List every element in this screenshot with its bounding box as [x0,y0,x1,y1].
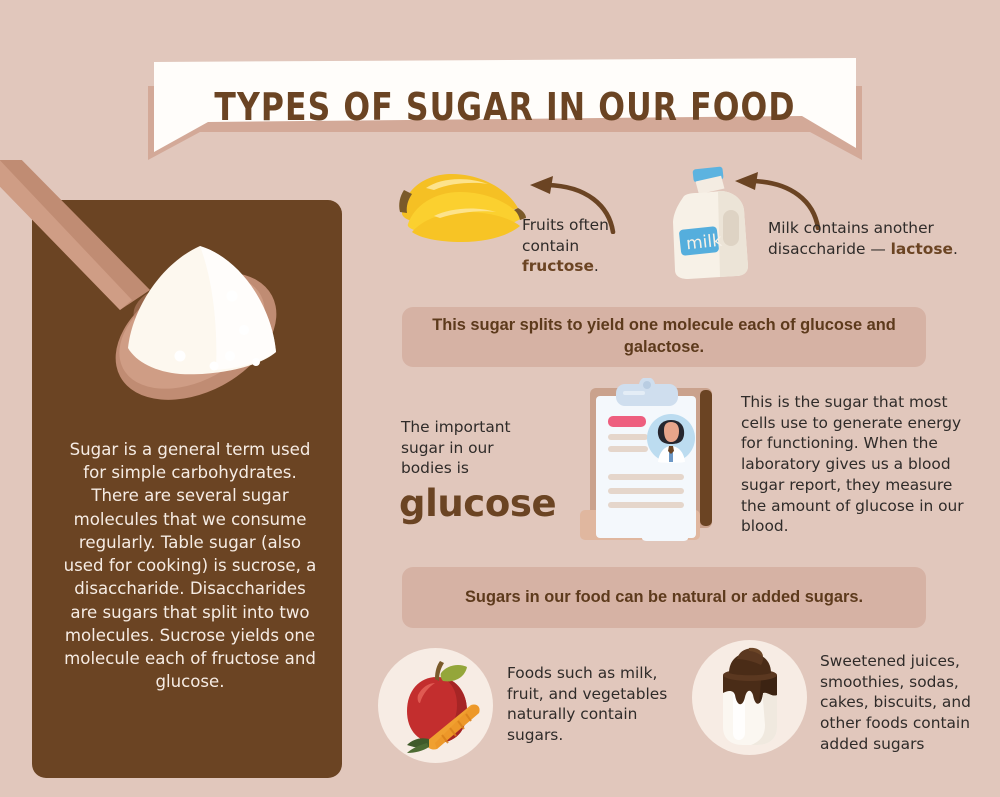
apple-carrot-icon [385,655,487,757]
callout-text: Sugars in our food can be natural or add… [465,587,863,609]
left-info-card: Sugar is a general term used for simple … [32,200,342,778]
fruits-note-text-after: . [594,257,599,275]
infographic-canvas: Types of Sugar in Our Food Sugar is a ge… [0,0,1000,797]
milk-note-text: Milk contains another disaccharide — lac… [768,218,983,259]
title-banner: Types of Sugar in Our Food [140,56,870,162]
milk-note-text-after: . [953,240,958,258]
fruits-note-highlight: fructose [522,257,594,275]
page-title: Types of Sugar in Our Food [169,85,841,129]
callout-text: This sugar splits to yield one molecule … [402,315,926,358]
glucose-word: glucose [399,482,556,525]
glucose-description-text: This is the sugar that most cells use to… [741,392,973,537]
callout-banner-galactose: This sugar splits to yield one molecule … [402,307,926,367]
callout-banner-natural-added: Sugars in our food can be natural or add… [402,567,926,628]
milk-label-text: milk [685,231,723,255]
natural-sugars-text: Foods such as milk, fruit, and vegetable… [507,663,677,746]
fruits-note-text-before: Fruits often contain [522,216,609,255]
chocolate-dessert-jar-icon [705,645,795,751]
glucose-lead-text: The important sugar in our bodies is [401,417,541,479]
fruits-note-text: Fruits often contain fructose. [522,215,642,277]
bananas-icon [390,168,530,248]
left-card-body: Sugar is a general term used for simple … [60,438,320,693]
milk-note-highlight: lactose [891,240,953,258]
clipboard-medical-report-icon [570,378,722,542]
added-sugars-text: Sweetened juices, smoothies, sodas, cake… [820,651,985,755]
